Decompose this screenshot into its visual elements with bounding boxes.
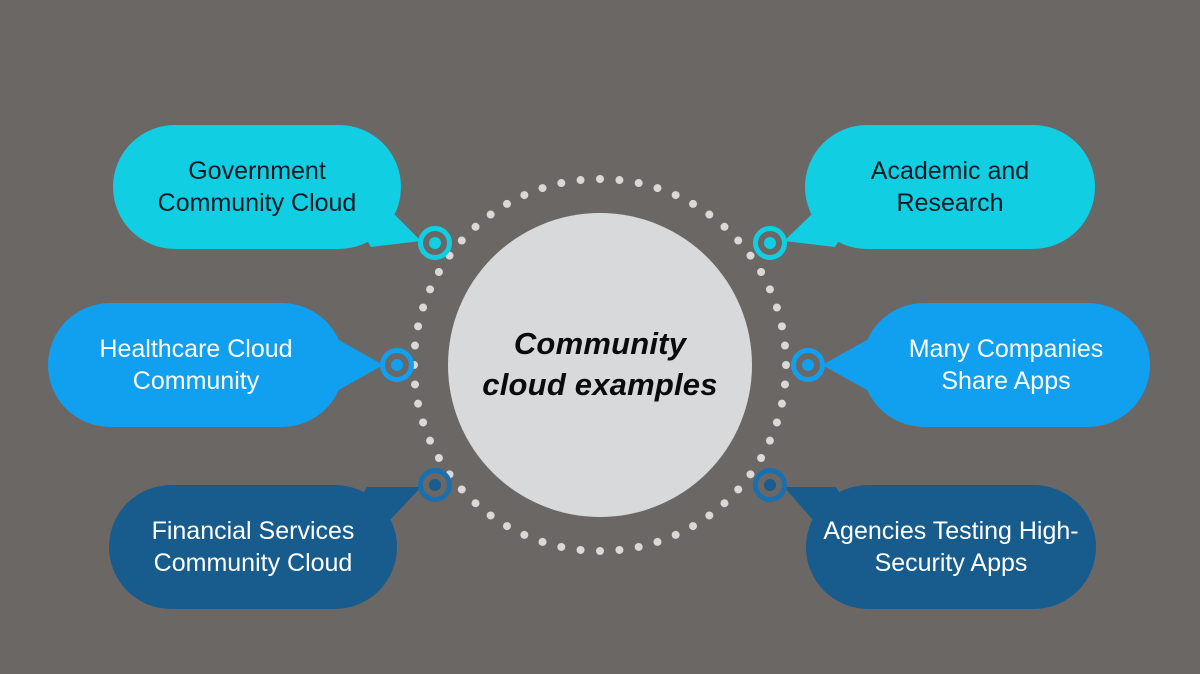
orbit-dot bbox=[778, 322, 786, 330]
callout-label-healthcare-cloud-community: Healthcare Cloud Community bbox=[48, 333, 344, 398]
marker-core-icon bbox=[429, 237, 441, 249]
orbit-dot bbox=[503, 200, 511, 208]
orbit-dot bbox=[503, 522, 511, 530]
marker-core-icon bbox=[429, 479, 441, 491]
orbit-dot bbox=[757, 454, 765, 462]
orbit-dot bbox=[539, 538, 547, 546]
orbit-dot bbox=[411, 380, 419, 388]
orbit-dot bbox=[520, 191, 528, 199]
marker-financial-icon[interactable] bbox=[418, 468, 452, 502]
marker-government-icon[interactable] bbox=[418, 226, 452, 260]
orbit-dot bbox=[757, 268, 765, 276]
callout-label-many-companies-share-apps: Many Companies Share Apps bbox=[862, 333, 1150, 398]
orbit-dot bbox=[577, 176, 585, 184]
orbit-dot bbox=[419, 418, 427, 426]
orbit-dot bbox=[435, 454, 443, 462]
callout-label-financial-services-community-cloud: Financial Services Community Cloud bbox=[109, 515, 397, 580]
orbit-dot bbox=[411, 342, 419, 350]
orbit-dot bbox=[596, 547, 604, 555]
orbit-dot bbox=[520, 531, 528, 539]
callout-bubble-healthcare-cloud-community[interactable]: Healthcare Cloud Community bbox=[48, 303, 344, 427]
orbit-dot bbox=[539, 184, 547, 192]
orbit-dot bbox=[557, 179, 565, 187]
orbit-dot bbox=[419, 304, 427, 312]
orbit-dot bbox=[782, 361, 790, 369]
orbit-dot bbox=[577, 546, 585, 554]
page-title: Community cloud examples bbox=[448, 213, 752, 517]
marker-academic-icon[interactable] bbox=[753, 226, 787, 260]
callout-bubble-academic-and-research[interactable]: Academic and Research bbox=[805, 125, 1095, 249]
orbit-dot bbox=[781, 380, 789, 388]
marker-core-icon bbox=[802, 359, 814, 371]
orbit-dot bbox=[635, 543, 643, 551]
marker-many-companies-icon[interactable] bbox=[791, 348, 825, 382]
orbit-dot bbox=[635, 179, 643, 187]
orbit-dot bbox=[596, 175, 604, 183]
orbit-dot bbox=[653, 184, 661, 192]
marker-core-icon bbox=[764, 237, 776, 249]
orbit-dot bbox=[781, 342, 789, 350]
callout-bubble-agencies-testing-high-security-apps[interactable]: Agencies Testing High- Security Apps bbox=[806, 485, 1096, 609]
marker-agencies-icon[interactable] bbox=[753, 468, 787, 502]
marker-healthcare-icon[interactable] bbox=[380, 348, 414, 382]
orbit-dot bbox=[414, 322, 422, 330]
callout-bubble-financial-services-community-cloud[interactable]: Financial Services Community Cloud bbox=[109, 485, 397, 609]
callout-label-academic-and-research: Academic and Research bbox=[805, 155, 1095, 220]
orbit-dot bbox=[414, 400, 422, 408]
callout-bubble-many-companies-share-apps[interactable]: Many Companies Share Apps bbox=[862, 303, 1150, 427]
callout-bubble-government-community-cloud[interactable]: Government Community Cloud bbox=[113, 125, 401, 249]
orbit-dot bbox=[653, 538, 661, 546]
orbit-dot bbox=[773, 304, 781, 312]
orbit-dot bbox=[435, 268, 443, 276]
orbit-dot bbox=[426, 285, 434, 293]
orbit-dot bbox=[689, 200, 697, 208]
orbit-dot bbox=[615, 176, 623, 184]
orbit-dot bbox=[689, 522, 697, 530]
orbit-dot bbox=[778, 400, 786, 408]
orbit-dot bbox=[615, 546, 623, 554]
marker-core-icon bbox=[391, 359, 403, 371]
orbit-dot bbox=[426, 437, 434, 445]
community-cloud-diagram: Community cloud examples Government Comm… bbox=[0, 0, 1200, 674]
orbit-dot bbox=[766, 437, 774, 445]
orbit-dot bbox=[557, 543, 565, 551]
callout-label-agencies-testing-high-security-apps: Agencies Testing High- Security Apps bbox=[806, 515, 1096, 580]
orbit-dot bbox=[672, 531, 680, 539]
callout-label-government-community-cloud: Government Community Cloud bbox=[113, 155, 401, 220]
orbit-dot bbox=[672, 191, 680, 199]
orbit-dot bbox=[773, 418, 781, 426]
marker-core-icon bbox=[764, 479, 776, 491]
orbit-dot bbox=[766, 285, 774, 293]
